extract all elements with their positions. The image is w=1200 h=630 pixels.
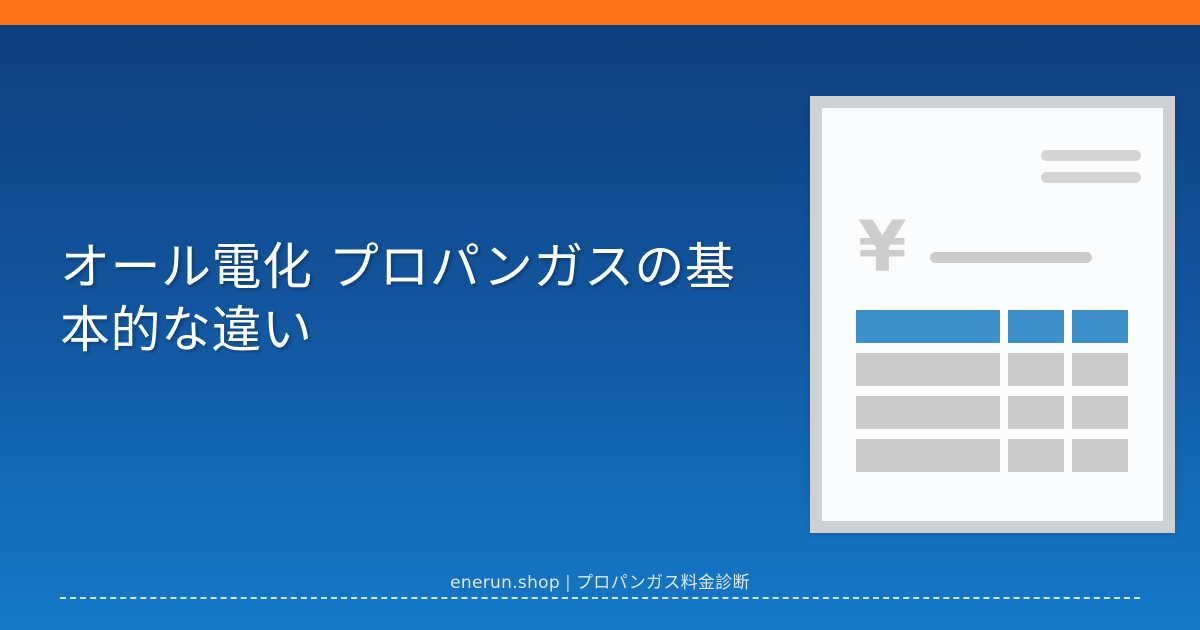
rate-table <box>856 310 1128 472</box>
footer-separator: | <box>560 573 576 593</box>
amount-placeholder-line <box>930 252 1092 263</box>
table-header-cell <box>1008 310 1064 343</box>
table-cell <box>1008 353 1064 386</box>
footer-text: enerun.shop|プロパンガス料金診断 <box>450 572 750 594</box>
table-cell <box>856 396 1000 429</box>
amount-row: ¥ <box>858 220 1138 282</box>
table-cell <box>1008 396 1064 429</box>
og-image-card: オール電化 プロパンガスの基本的な違い ¥ <box>0 0 1200 630</box>
table-header-cell <box>1072 310 1128 343</box>
footer-dashed-rule <box>60 597 1140 599</box>
table-row <box>856 396 1128 429</box>
table-cell <box>1072 353 1128 386</box>
table-header-cell <box>856 310 1000 343</box>
table-row <box>856 439 1128 472</box>
page-title: オール電化 プロパンガスの基本的な違い <box>60 236 750 362</box>
footer: enerun.shop|プロパンガス料金診断 <box>0 572 1200 594</box>
table-header-row <box>856 310 1128 343</box>
table-cell <box>1008 439 1064 472</box>
table-row <box>856 353 1128 386</box>
document-header-line-2 <box>1041 172 1141 183</box>
table-cell <box>856 439 1000 472</box>
headline-block: オール電化 プロパンガスの基本的な違い <box>60 236 750 362</box>
footer-tagline: プロパンガス料金診断 <box>576 573 750 593</box>
top-accent-bar <box>0 0 1200 25</box>
footer-site-name: enerun.shop <box>450 573 560 593</box>
table-cell <box>856 353 1000 386</box>
document-header-line-1 <box>1041 150 1141 161</box>
yen-currency-icon: ¥ <box>858 216 907 278</box>
document-inner: ¥ <box>822 108 1163 521</box>
table-cell <box>1072 439 1128 472</box>
table-cell <box>1072 396 1128 429</box>
invoice-document-illustration: ¥ <box>810 96 1175 533</box>
